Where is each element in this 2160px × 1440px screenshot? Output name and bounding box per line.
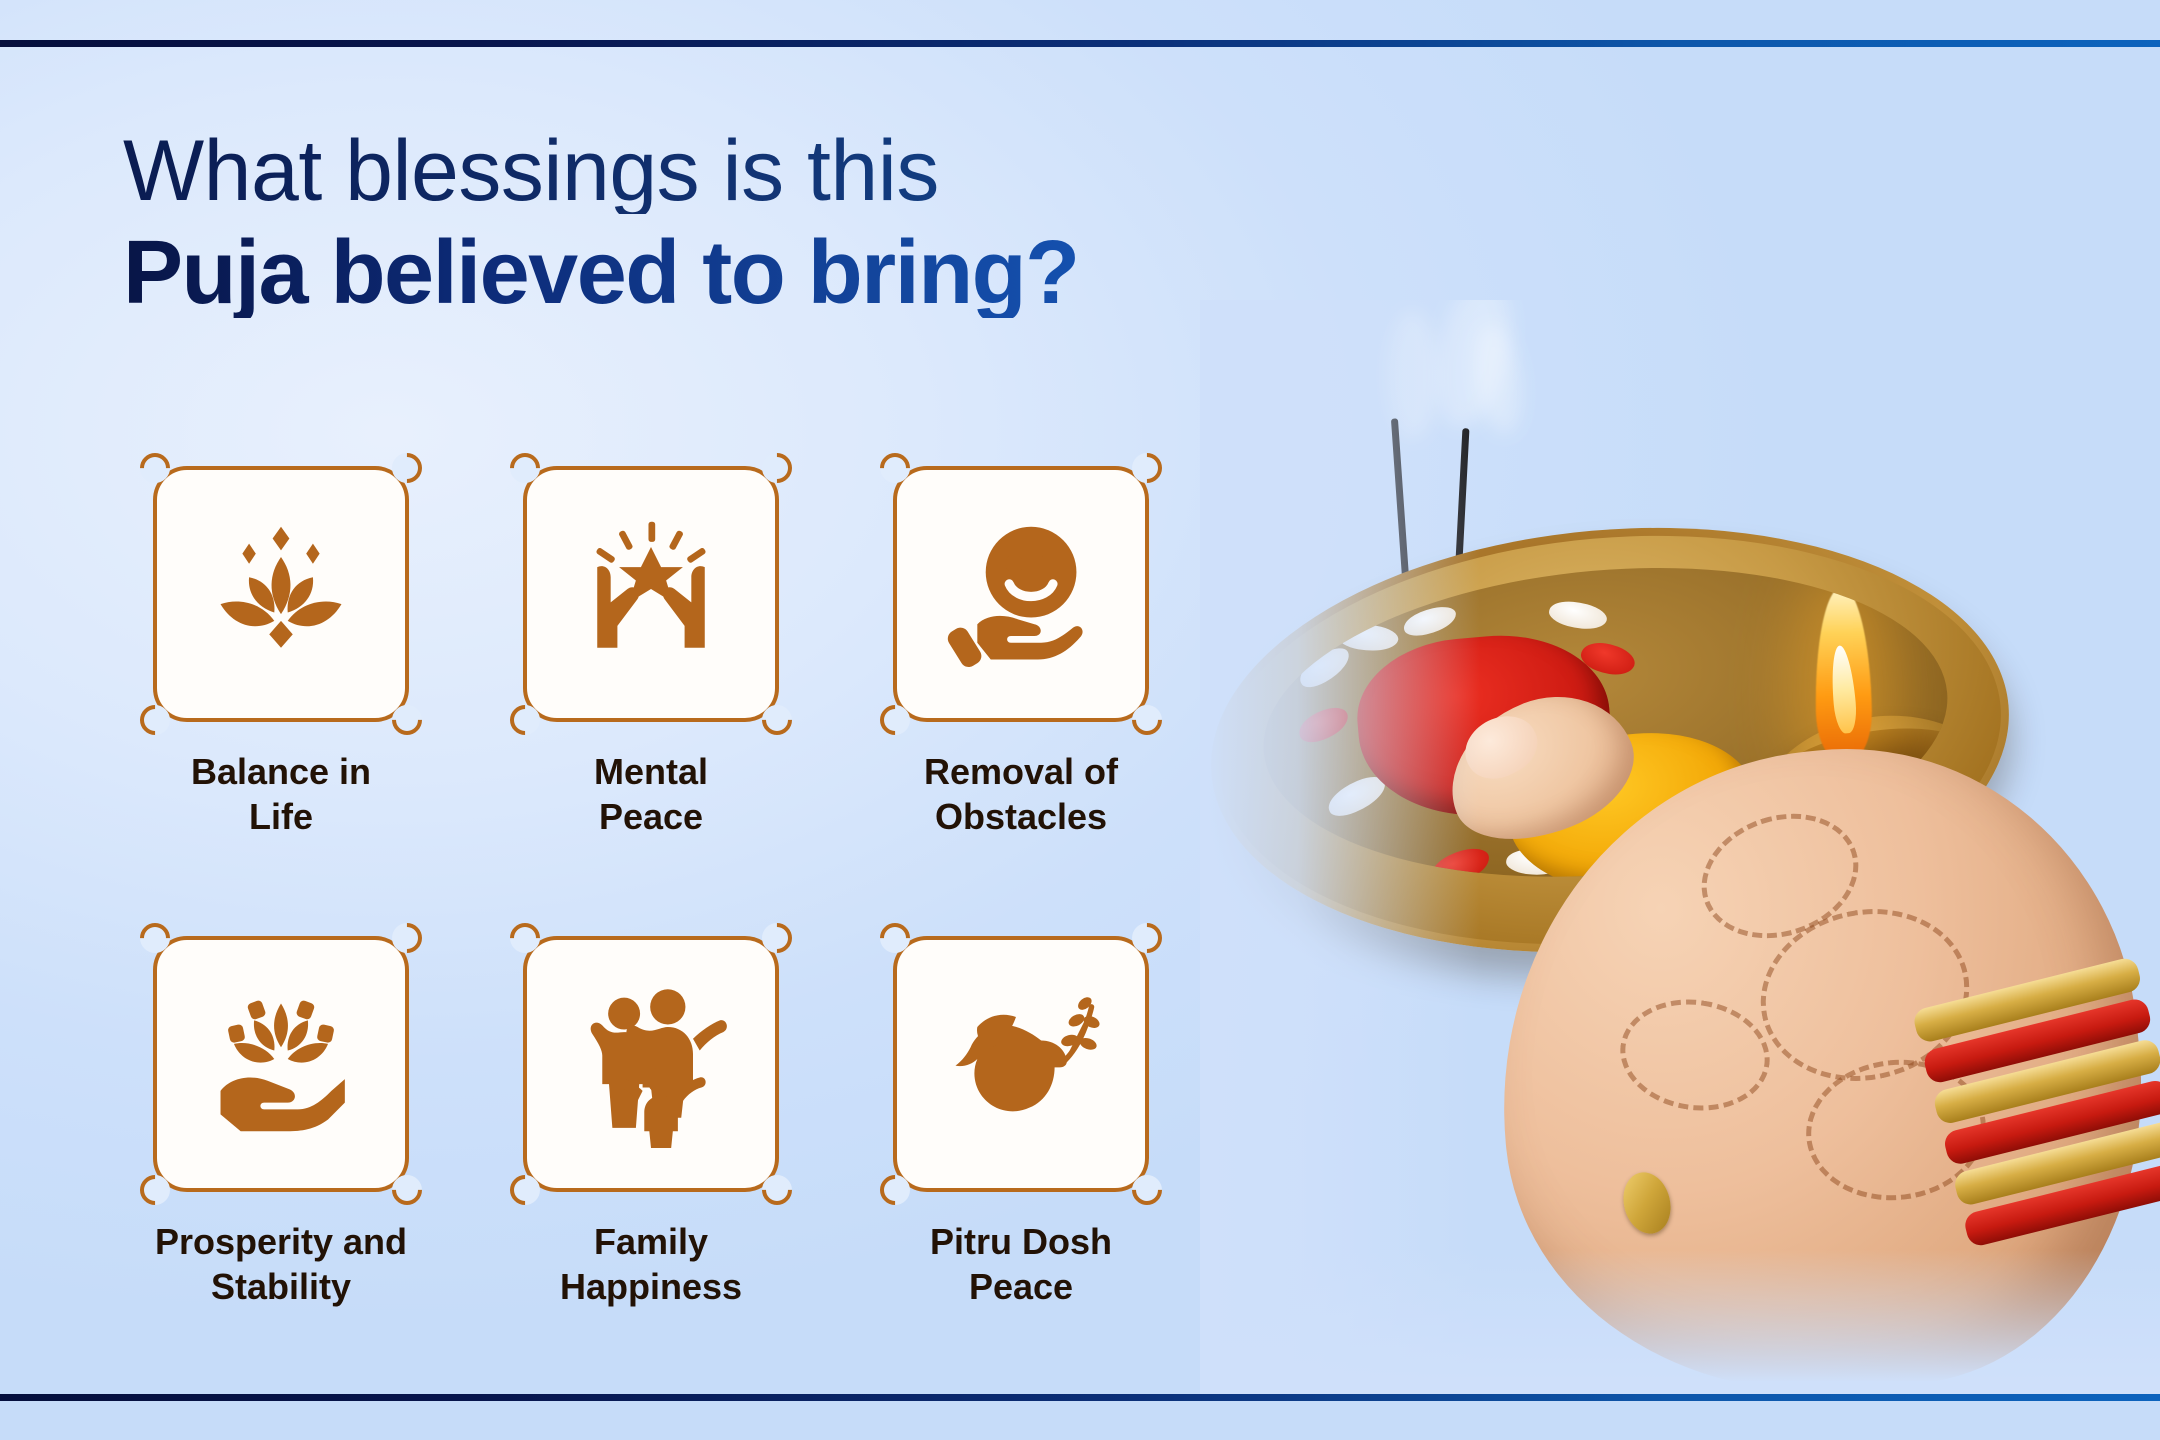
cusp-corner-bottom-right: [756, 699, 798, 741]
cusp-corner-top-left: [504, 447, 546, 489]
white-petal: [1547, 595, 1610, 635]
blessing-item-balance-in-life[interactable]: Balance in Life: [96, 466, 466, 936]
cusp-corner-bottom-right: [1126, 1169, 1168, 1211]
icon-card: [893, 466, 1149, 722]
icon-card: [523, 936, 779, 1192]
cusp-corner-bottom-left: [504, 1169, 546, 1211]
blessing-label: Pitru Dosh Peace: [856, 1220, 1186, 1309]
cusp-corner-bottom-left: [504, 699, 546, 741]
blessing-item-pitru-dosh-peace[interactable]: Pitru Dosh Peace: [836, 936, 1206, 1406]
top-divider-rule: [0, 40, 2160, 47]
dove-with-olive-branch-icon: [937, 980, 1105, 1148]
icon-card: [893, 936, 1149, 1192]
bottom-divider-rule: [0, 1394, 2160, 1401]
headline-line-1: What blessings is this: [123, 128, 1373, 214]
icon-card: [153, 936, 409, 1192]
puja-thali-photo: [1200, 300, 2160, 1400]
cusp-corner-bottom-left: [134, 699, 176, 741]
cusp-corner-top-right: [756, 447, 798, 489]
blessings-grid: Balance in Life Mental: [96, 466, 1206, 1406]
family-of-three-icon: [567, 980, 735, 1148]
lotus-flower-icon: [197, 510, 365, 678]
cusp-corner-bottom-right: [386, 1169, 428, 1211]
photo-composition: [1200, 300, 2160, 1400]
cusp-corner-bottom-left: [874, 699, 916, 741]
hand-holding-smiley-icon: [937, 510, 1105, 678]
icon-card: [523, 466, 779, 722]
icon-card: [153, 466, 409, 722]
page-title: What blessings is this Puja believed to …: [123, 128, 1373, 318]
cusp-corner-bottom-right: [386, 699, 428, 741]
blessing-item-family-happiness[interactable]: Family Happiness: [466, 936, 836, 1406]
blessing-label: Prosperity and Stability: [116, 1220, 446, 1309]
blessing-label: Mental Peace: [486, 750, 816, 839]
cusp-corner-top-right: [386, 447, 428, 489]
cusp-corner-top-left: [134, 447, 176, 489]
headline-line-2: Puja believed to bring?: [123, 228, 1373, 318]
blessing-label: Balance in Life: [116, 750, 446, 839]
blessing-item-mental-peace[interactable]: Mental Peace: [466, 466, 836, 936]
hand-holding-lotus-icon: [197, 980, 365, 1148]
poster-canvas: What blessings is this Puja believed to …: [0, 0, 2160, 1440]
blessing-label: Removal of Obstacles: [856, 750, 1186, 839]
blessing-label: Family Happiness: [486, 1220, 816, 1309]
cusp-corner-bottom-right: [756, 1169, 798, 1211]
cusp-corner-bottom-left: [874, 1169, 916, 1211]
red-petal: [1294, 703, 1352, 746]
blessing-item-prosperity-and-stability[interactable]: Prosperity and Stability: [96, 936, 466, 1406]
cusp-corner-bottom-right: [1126, 699, 1168, 741]
blessing-item-removal-of-obstacles[interactable]: Removal of Obstacles: [836, 466, 1206, 936]
cusp-corner-top-left: [874, 447, 916, 489]
hands-holding-star-icon: [567, 510, 735, 678]
cusp-corner-bottom-left: [134, 1169, 176, 1211]
cusp-corner-top-right: [1126, 447, 1168, 489]
